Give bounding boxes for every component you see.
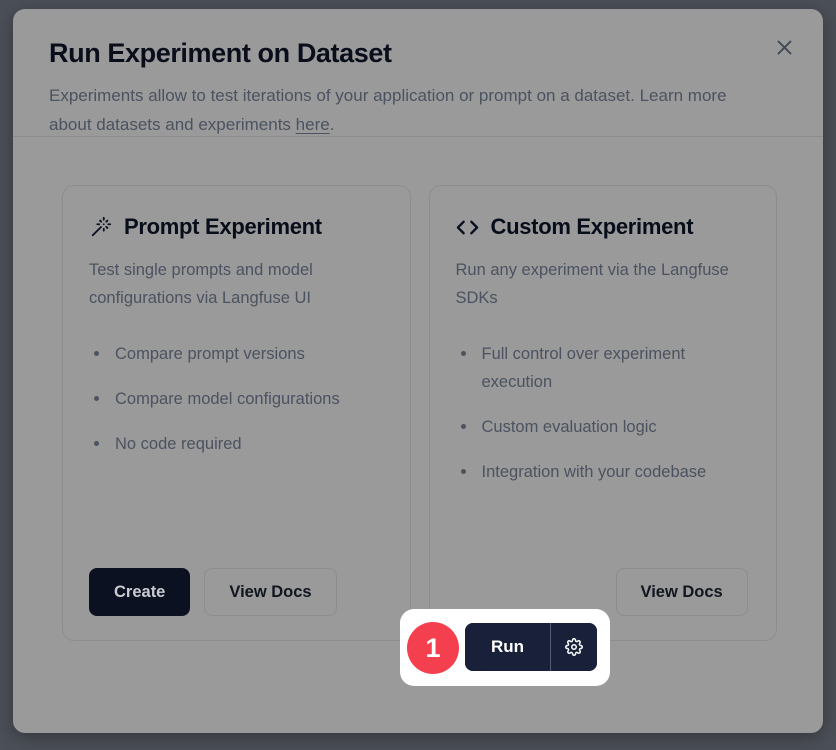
card-feature-list: Full control over experiment execution C… — [456, 340, 751, 503]
dialog-description-text-before: Experiments allow to test iterations of … — [49, 86, 727, 134]
dialog-description: Experiments allow to test iterations of … — [49, 81, 749, 139]
dialog-description-text-after: . — [330, 115, 335, 134]
bullet-dot — [461, 424, 466, 429]
experiment-type-cards: Prompt Experiment Test single prompts an… — [13, 137, 823, 641]
learn-more-here-link[interactable]: here — [296, 115, 330, 134]
bullet-dot — [461, 351, 466, 356]
view-docs-button-prompt[interactable]: View Docs — [204, 568, 336, 616]
list-item: Compare model configurations — [89, 385, 384, 413]
card-header: Custom Experiment — [456, 214, 751, 240]
card-description: Run any experiment via the Langfuse SDKs — [456, 256, 751, 312]
run-split-group: Run — [465, 623, 597, 671]
card-custom-experiment[interactable]: Custom Experiment Run any experiment via… — [429, 185, 778, 641]
list-item: Compare prompt versions — [89, 340, 384, 368]
list-item-label: No code required — [115, 435, 242, 453]
gear-icon[interactable] — [551, 623, 597, 671]
list-item-label: Compare model configurations — [115, 390, 340, 408]
card-title: Custom Experiment — [491, 214, 694, 240]
card-header: Prompt Experiment — [89, 214, 384, 240]
list-item: No code required — [89, 430, 384, 458]
close-icon[interactable] — [771, 34, 797, 60]
list-item-label: Integration with your codebase — [482, 463, 707, 481]
list-item-label: Full control over experiment execution — [482, 345, 686, 391]
run-experiment-dialog: Run Experiment on Dataset Experiments al… — [13, 9, 823, 733]
card-prompt-experiment[interactable]: Prompt Experiment Test single prompts an… — [62, 185, 411, 641]
bullet-dot — [94, 441, 99, 446]
list-item: Full control over experiment execution — [456, 340, 751, 396]
list-item: Integration with your codebase — [456, 458, 751, 486]
card-title: Prompt Experiment — [124, 214, 322, 240]
create-button[interactable]: Create — [89, 568, 190, 616]
list-item-label: Custom evaluation logic — [482, 418, 657, 436]
magic-wand-icon — [89, 215, 113, 239]
bullet-dot — [94, 396, 99, 401]
code-brackets-icon — [456, 215, 480, 239]
card-actions: View Docs — [456, 568, 751, 616]
bullet-dot — [94, 351, 99, 356]
view-docs-button-custom[interactable]: View Docs — [616, 568, 748, 616]
step-number-badge: 1 — [407, 622, 459, 674]
list-item-label: Compare prompt versions — [115, 345, 305, 363]
page-title: Run Experiment on Dataset — [49, 37, 787, 69]
card-description: Test single prompts and model configurat… — [89, 256, 384, 312]
bullet-dot — [461, 469, 466, 474]
card-feature-list: Compare prompt versions Compare model co… — [89, 340, 384, 475]
list-item: Custom evaluation logic — [456, 413, 751, 441]
run-split-button-group: Run — [465, 623, 597, 671]
run-button[interactable]: Run — [465, 623, 551, 671]
card-actions: Create View Docs — [89, 568, 384, 616]
dialog-header: Run Experiment on Dataset Experiments al… — [13, 9, 823, 137]
